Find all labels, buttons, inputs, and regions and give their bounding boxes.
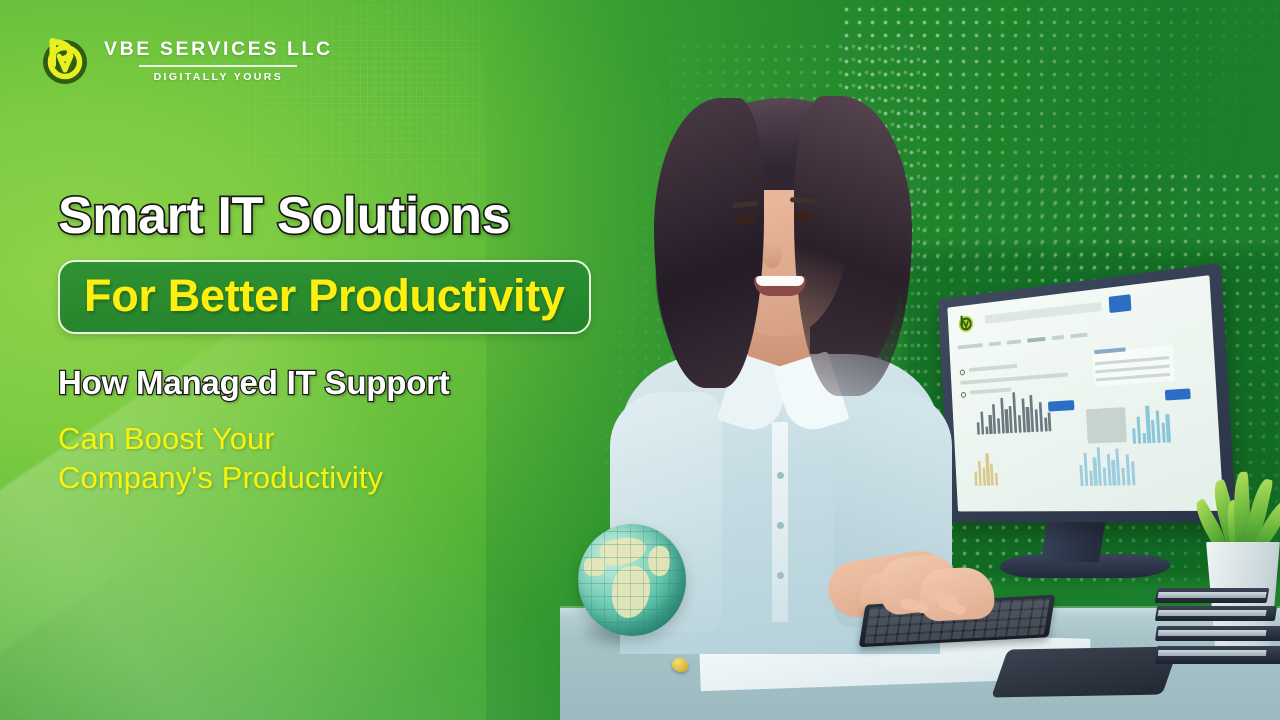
bar bbox=[992, 404, 996, 434]
nav-item[interactable] bbox=[989, 341, 1001, 346]
bar bbox=[1089, 471, 1093, 486]
vbe-b-v-monogram-icon bbox=[36, 32, 92, 88]
brand-divider bbox=[139, 65, 297, 67]
teeth bbox=[756, 276, 804, 286]
bar bbox=[997, 418, 1001, 434]
primary-button[interactable] bbox=[1048, 400, 1075, 411]
bar bbox=[1122, 468, 1126, 485]
monitor-screen bbox=[947, 275, 1223, 511]
eye-left bbox=[736, 215, 755, 224]
book bbox=[1155, 626, 1280, 641]
performance-bar-chart bbox=[1131, 405, 1171, 444]
secondary-button[interactable] bbox=[1165, 388, 1191, 400]
book bbox=[1155, 606, 1277, 621]
dashboard-ui bbox=[947, 275, 1223, 511]
bar bbox=[985, 426, 988, 434]
description: Can Boost Your Company's Productivity bbox=[58, 419, 678, 497]
dashboard-logo-icon bbox=[956, 312, 975, 335]
status-badge bbox=[961, 392, 966, 398]
description-line-1: Can Boost Your bbox=[58, 419, 678, 458]
panel-line bbox=[1096, 373, 1171, 382]
bar bbox=[1044, 418, 1048, 432]
hair-right bbox=[794, 96, 912, 396]
bar bbox=[1131, 461, 1136, 485]
bar bbox=[989, 415, 993, 434]
bar bbox=[1029, 395, 1034, 433]
marketing-banner: VBE SERVICES LLC DIGITALLY YOURS Smart I… bbox=[0, 0, 1280, 720]
nav-item[interactable] bbox=[958, 343, 983, 349]
mousepad bbox=[991, 647, 1179, 698]
bar bbox=[1018, 415, 1022, 433]
book-pages bbox=[1158, 650, 1267, 656]
bar bbox=[1103, 467, 1107, 486]
main-bar-chart bbox=[975, 390, 1052, 435]
shirt-button bbox=[777, 572, 784, 579]
book-pages bbox=[1158, 610, 1267, 616]
bar bbox=[1112, 460, 1117, 485]
bar bbox=[1048, 412, 1052, 431]
bar bbox=[1132, 428, 1136, 444]
nav-item[interactable] bbox=[1007, 339, 1021, 344]
panel-line bbox=[1095, 364, 1170, 373]
search-icon[interactable] bbox=[1109, 294, 1132, 313]
mouth bbox=[754, 276, 806, 296]
page-title: Smart IT Solutions bbox=[58, 190, 678, 242]
nav-item[interactable] bbox=[1070, 333, 1087, 339]
nose bbox=[762, 242, 782, 268]
bar bbox=[985, 453, 989, 485]
book-pages bbox=[1158, 630, 1267, 636]
subheadline: How Managed IT Support bbox=[58, 366, 678, 399]
globe-decor bbox=[578, 524, 686, 636]
bar bbox=[1142, 433, 1146, 444]
bar bbox=[1125, 455, 1130, 486]
book bbox=[1155, 646, 1280, 664]
left-small-bar-chart bbox=[973, 453, 998, 486]
bottom-wide-bar-chart bbox=[1079, 446, 1136, 486]
bar bbox=[980, 412, 984, 435]
shirt-button bbox=[777, 472, 784, 479]
brand-logo[interactable]: VBE SERVICES LLC DIGITALLY YOURS bbox=[36, 32, 333, 88]
bar bbox=[1156, 411, 1161, 443]
bar bbox=[990, 464, 994, 486]
bar bbox=[1151, 420, 1156, 443]
bar bbox=[1021, 399, 1026, 433]
bar bbox=[1012, 392, 1017, 433]
bar bbox=[982, 468, 986, 486]
book-stack bbox=[1156, 588, 1278, 678]
bar bbox=[1083, 453, 1088, 486]
status-badge bbox=[960, 369, 965, 375]
bar bbox=[1097, 447, 1102, 486]
bar bbox=[1145, 406, 1150, 444]
bar bbox=[978, 461, 982, 486]
highlight-box-text: For Better Productivity bbox=[84, 273, 565, 318]
description-line-2: Company's Productivity bbox=[58, 458, 678, 497]
nav-item[interactable] bbox=[1027, 337, 1045, 343]
gold-nugget-decor bbox=[672, 658, 688, 672]
bar bbox=[1116, 448, 1121, 485]
shirt-button bbox=[777, 522, 784, 529]
brand-tagline: DIGITALLY YOURS bbox=[154, 72, 284, 83]
panel-title bbox=[1094, 347, 1126, 354]
highlight-box: For Better Productivity bbox=[58, 260, 591, 334]
bar bbox=[1000, 398, 1005, 433]
dashboard-nav[interactable] bbox=[958, 333, 1088, 350]
bar bbox=[995, 473, 998, 486]
bar bbox=[1166, 414, 1171, 442]
bar bbox=[1079, 464, 1083, 486]
dashboard-search-input[interactable] bbox=[985, 302, 1102, 324]
bar bbox=[1161, 423, 1165, 443]
brand-text: VBE SERVICES LLC DIGITALLY YOURS bbox=[104, 38, 333, 83]
bar bbox=[1039, 402, 1044, 432]
bar bbox=[1136, 417, 1141, 444]
nav-item[interactable] bbox=[1052, 335, 1064, 340]
hero-copy: Smart IT Solutions For Better Productivi… bbox=[58, 190, 678, 497]
brand-name: VBE SERVICES LLC bbox=[104, 40, 333, 60]
eye-right bbox=[794, 212, 813, 221]
bar bbox=[1107, 454, 1112, 486]
globe-gridlines bbox=[578, 524, 686, 636]
performance-thumbnail bbox=[1086, 407, 1127, 443]
bar bbox=[1035, 409, 1039, 431]
bar bbox=[977, 422, 980, 434]
book bbox=[1155, 588, 1270, 603]
bar bbox=[974, 472, 977, 486]
text-placeholder bbox=[969, 364, 1017, 372]
book-pages bbox=[1158, 592, 1267, 598]
